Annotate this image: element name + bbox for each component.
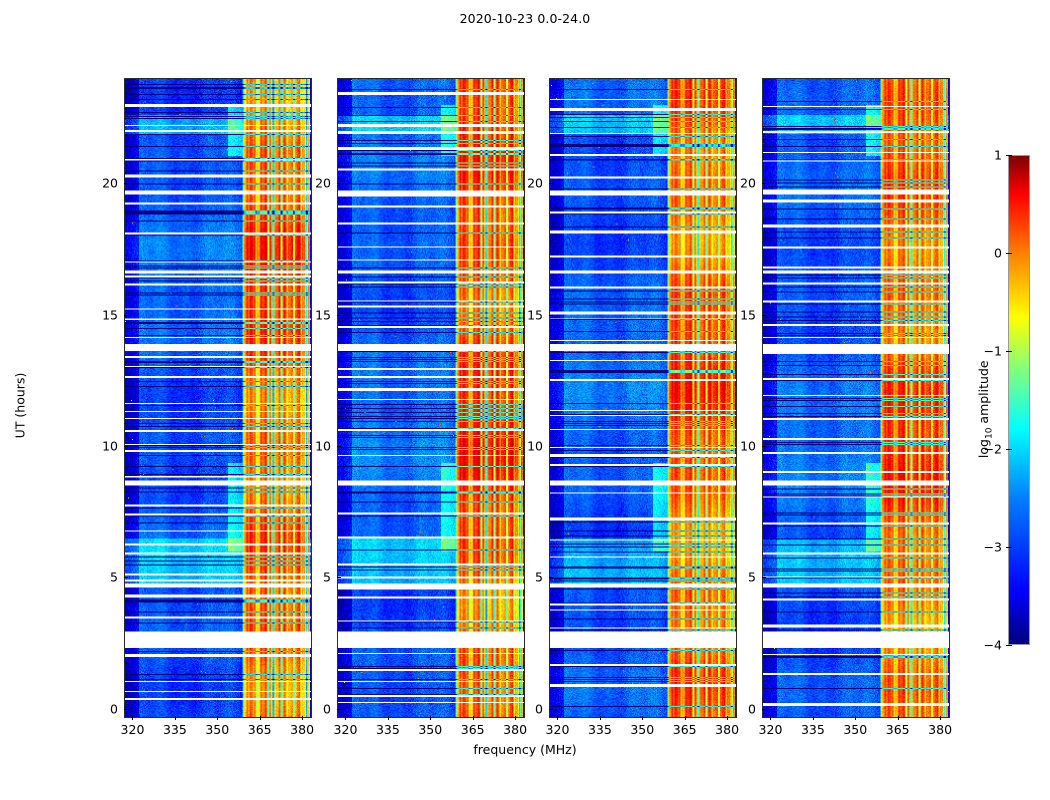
y-tick-label: 20	[527, 176, 543, 191]
y-tick-mark	[337, 577, 341, 578]
x-tick-mark	[388, 716, 389, 720]
y-tick-label: 15	[527, 307, 543, 322]
y-tick-mark	[124, 315, 128, 316]
x-tick-label: 380	[715, 722, 739, 737]
x-tick-mark	[132, 716, 133, 720]
waterfall-image-yx	[763, 79, 949, 717]
x-tick-mark	[855, 716, 856, 720]
colorbar-tick-label: 1	[994, 148, 1002, 163]
y-tick-mark	[549, 183, 553, 184]
y-tick-label: 0	[535, 701, 543, 716]
x-tick-label: 320	[121, 722, 145, 737]
colorbar-label: log10 amplitude	[976, 329, 995, 489]
x-axis-ticks-yx: 320335350365380	[762, 720, 950, 740]
y-tick-label: 15	[740, 307, 756, 322]
y-tick-label: 0	[323, 701, 331, 716]
x-tick-label: 350	[843, 722, 867, 737]
x-tick-label: 365	[248, 722, 272, 737]
x-tick-mark	[813, 716, 814, 720]
y-tick-label: 10	[102, 438, 118, 453]
x-tick-label: 365	[461, 722, 485, 737]
y-tick-label: 10	[740, 438, 756, 453]
y-tick-label: 15	[102, 307, 118, 322]
y-tick-mark	[337, 183, 341, 184]
colorbar-tick-mark	[1006, 547, 1012, 548]
y-tick-label: 20	[102, 176, 118, 191]
y-axis-ticks-yx: 05101520	[654, 78, 762, 718]
colorbar-tick-label: 0	[994, 246, 1002, 261]
colorbar-tick-mark	[1006, 253, 1012, 254]
y-axis-ticks-yy: 05101520	[229, 78, 337, 718]
y-tick-label: 10	[527, 438, 543, 453]
x-tick-label: 380	[503, 722, 527, 737]
y-tick-mark	[762, 709, 766, 710]
y-axis-ticks-xx: 05101520	[16, 78, 124, 718]
y-tick-mark	[124, 709, 128, 710]
y-tick-mark	[549, 709, 553, 710]
x-axis-ticks-xx: 320335350365380	[124, 720, 312, 740]
y-tick-label: 5	[535, 570, 543, 585]
y-tick-mark	[762, 446, 766, 447]
y-tick-label: 20	[740, 176, 756, 191]
figure-suptitle: 2020-10-23 0.0-24.0	[0, 11, 1050, 26]
x-axis-ticks-yy: 320335350365380	[337, 720, 525, 740]
colorbar-tick-mark	[1006, 351, 1012, 352]
x-tick-label: 320	[759, 722, 783, 737]
x-tick-mark	[770, 716, 771, 720]
y-tick-label: 0	[110, 701, 118, 716]
x-tick-label: 380	[928, 722, 952, 737]
colorbar-tick-mark	[1006, 155, 1012, 156]
y-axis-label: UT (hours)	[13, 326, 28, 486]
y-tick-mark	[762, 315, 766, 316]
colorbar-tick-mark	[1006, 449, 1012, 450]
y-tick-label: 10	[315, 438, 331, 453]
y-tick-mark	[124, 446, 128, 447]
colorbar-tick-label: −4	[984, 638, 1002, 653]
x-tick-label: 335	[376, 722, 400, 737]
x-tick-mark	[217, 716, 218, 720]
x-tick-label: 335	[588, 722, 612, 737]
y-tick-label: 5	[748, 570, 756, 585]
x-tick-mark	[345, 716, 346, 720]
y-tick-mark	[762, 577, 766, 578]
x-tick-label: 335	[163, 722, 187, 737]
x-tick-label: 350	[418, 722, 442, 737]
x-axis-ticks-xy: 320335350365380	[549, 720, 737, 740]
x-tick-label: 365	[886, 722, 910, 737]
x-tick-mark	[557, 716, 558, 720]
y-tick-mark	[549, 315, 553, 316]
y-tick-mark	[337, 446, 341, 447]
y-tick-mark	[549, 446, 553, 447]
y-tick-mark	[124, 183, 128, 184]
x-tick-label: 380	[290, 722, 314, 737]
x-tick-mark	[175, 716, 176, 720]
colorbar-gradient[interactable]	[1008, 155, 1030, 645]
x-tick-label: 320	[546, 722, 570, 737]
colorbar-tick-mark	[1006, 645, 1012, 646]
x-tick-mark	[898, 716, 899, 720]
x-tick-label: 320	[334, 722, 358, 737]
y-tick-label: 15	[315, 307, 331, 322]
x-tick-label: 350	[205, 722, 229, 737]
y-tick-mark	[337, 315, 341, 316]
y-tick-mark	[762, 183, 766, 184]
y-tick-mark	[124, 577, 128, 578]
x-tick-label: 365	[673, 722, 697, 737]
x-tick-mark	[642, 716, 643, 720]
y-tick-label: 20	[315, 176, 331, 191]
x-tick-mark	[430, 716, 431, 720]
x-axis-label: frequency (MHz)	[0, 742, 1050, 757]
figure-canvas: 2020-10-23 0.0-24.0 XX, V2*V12=EA12*EA18…	[0, 0, 1050, 800]
x-tick-mark	[940, 716, 941, 720]
y-tick-label: 0	[748, 701, 756, 716]
x-tick-label: 350	[630, 722, 654, 737]
y-tick-mark	[337, 709, 341, 710]
x-tick-mark	[600, 716, 601, 720]
x-tick-label: 335	[801, 722, 825, 737]
spectrum-panel-yx[interactable]: YX, V2*V12=EA12*EA18	[762, 78, 950, 718]
y-tick-mark	[549, 577, 553, 578]
colorbar-tick-label: −3	[984, 540, 1002, 555]
y-tick-label: 5	[110, 570, 118, 585]
y-axis-ticks-xy: 05101520	[441, 78, 549, 718]
y-tick-label: 5	[323, 570, 331, 585]
colorbar-ticks: −4−3−2−101	[940, 155, 1006, 645]
